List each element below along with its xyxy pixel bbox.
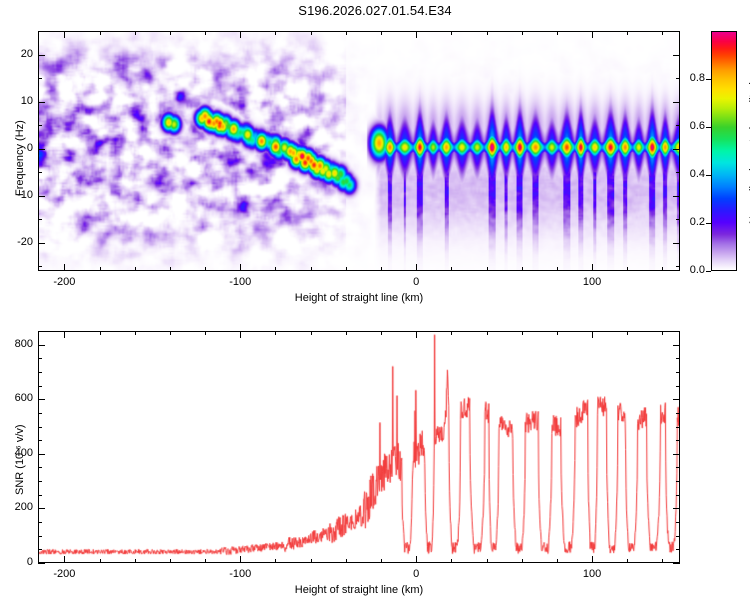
snr-xtick-label: 0 <box>398 568 434 580</box>
spectrogram-ytick <box>38 102 45 103</box>
snr-ytick-right <box>676 467 680 468</box>
snr-xtick-top <box>64 331 65 338</box>
snr-ytick <box>38 508 45 509</box>
snr-ytick <box>38 563 45 564</box>
snr-xtick <box>170 559 171 563</box>
spectrogram-xtick-label: -200 <box>46 276 82 288</box>
snr-ytick-right <box>676 427 680 428</box>
snr-xtick-top <box>592 331 593 338</box>
snr-xtick-top <box>381 331 382 335</box>
spectrogram-xtick-top <box>240 31 241 38</box>
spectrogram-xtick-label: 100 <box>574 276 610 288</box>
snr-ytick-right <box>676 440 680 441</box>
colorbar-tick <box>706 79 711 80</box>
spectrogram-xtick <box>416 264 417 271</box>
snr-ytick <box>38 536 42 537</box>
spectrogram-xtick <box>311 267 312 271</box>
snr-ytick-right <box>676 495 680 496</box>
spectrogram-xtick-top <box>557 31 558 35</box>
snr-ytick <box>38 522 42 523</box>
colorbar-tick-label: 0.2 <box>677 216 705 228</box>
spectrogram-ytick-right <box>676 31 680 32</box>
spectrogram-ytick-right <box>673 196 680 197</box>
snr-ytick-right <box>676 481 680 482</box>
snr-xtick <box>346 559 347 563</box>
spectrogram-xtick <box>100 267 101 271</box>
snr-xtick-top <box>522 331 523 335</box>
snr-xtick <box>100 559 101 563</box>
snr-ytick-right <box>673 508 680 509</box>
snr-trace <box>39 332 679 562</box>
snr-ytick <box>38 481 42 482</box>
snr-xtick <box>487 559 488 563</box>
spectrogram-ytick <box>38 125 42 126</box>
spectrogram-xtick-top <box>311 31 312 35</box>
spectrogram-ytick-right <box>673 102 680 103</box>
snr-ytick <box>38 440 42 441</box>
snr-ytick <box>38 413 42 414</box>
spectrogram-ytick <box>38 149 45 150</box>
snr-ytick-right <box>676 331 680 332</box>
spectrogram-ytick <box>38 172 42 173</box>
spectrogram-ytick-right <box>673 243 680 244</box>
spectrogram-xtick-top <box>592 31 593 38</box>
snr-xtick <box>240 556 241 563</box>
snr-ytick <box>38 467 42 468</box>
spectrogram-xtick <box>592 264 593 271</box>
spectrogram-xtick <box>205 267 206 271</box>
snr-xtick-top <box>100 331 101 335</box>
spectrogram-ytick <box>38 219 42 220</box>
snr-xtick <box>135 559 136 563</box>
spectrogram-xtick <box>64 264 65 271</box>
snr-xtick <box>64 556 65 563</box>
spectrogram-image <box>39 32 679 270</box>
snr-xaxis-label: Height of straight line (km) <box>289 584 429 596</box>
colorbar-tick-label: 0.8 <box>677 72 705 84</box>
spectrogram-xtick <box>487 267 488 271</box>
spectrogram-ytick <box>38 243 45 244</box>
colorbar-gradient <box>711 31 737 271</box>
spectrogram-ytick-right <box>673 55 680 56</box>
snr-xtick-top <box>662 331 663 335</box>
spectrogram-xtick-top <box>487 31 488 35</box>
spectrogram-xtick-label: -100 <box>222 276 258 288</box>
colorbar-tick-label: 0.4 <box>677 168 705 180</box>
spectrogram-ytick <box>38 31 42 32</box>
snr-xtick <box>557 559 558 563</box>
spectrogram-xtick <box>346 267 347 271</box>
snr-ytick <box>38 386 42 387</box>
spectrogram-xtick <box>135 267 136 271</box>
spectrogram-xaxis-label: Height of straight line (km) <box>289 292 429 304</box>
snr-xtick-top <box>240 331 241 338</box>
snr-ytick <box>38 399 45 400</box>
snr-ytick-right <box>673 454 680 455</box>
spectrogram-ytick <box>38 196 45 197</box>
snr-xtick-top <box>135 331 136 335</box>
snr-ytick <box>38 427 42 428</box>
snr-ytick-right <box>676 358 680 359</box>
snr-ytick-right <box>673 563 680 564</box>
page-title: S196.2026.027.01.54.E34 <box>0 3 750 18</box>
snr-xtick <box>592 556 593 563</box>
spectrogram-xtick <box>381 267 382 271</box>
spectrogram-xtick <box>627 267 628 271</box>
snr-xtick-top <box>311 331 312 335</box>
snr-ytick-label: 200 <box>4 501 33 513</box>
snr-xtick-top <box>170 331 171 335</box>
snr-ytick-label: 0 <box>4 556 33 568</box>
snr-xtick <box>627 559 628 563</box>
spectrogram-xtick-top <box>64 31 65 38</box>
snr-xtick-label: -200 <box>46 568 82 580</box>
spectrogram-panel[interactable] <box>38 31 680 271</box>
spectrogram-ytick <box>38 266 42 267</box>
snr-ytick <box>38 331 42 332</box>
spectrogram-xtick <box>522 267 523 271</box>
snr-ytick-right <box>676 413 680 414</box>
spectrogram-xtick <box>240 264 241 271</box>
spectrogram-xtick-top <box>416 31 417 38</box>
spectrogram-xtick-top <box>135 31 136 35</box>
spectrogram-xtick-top <box>627 31 628 35</box>
spectrogram-xtick-top <box>522 31 523 35</box>
spectrogram-xtick-top <box>346 31 347 35</box>
snr-ytick-right <box>676 536 680 537</box>
spectrogram-xtick-top <box>205 31 206 35</box>
spectrogram-ytick <box>38 55 45 56</box>
colorbar-tick <box>706 127 711 128</box>
snr-xtick-top <box>275 331 276 335</box>
snr-ytick-right <box>676 549 680 550</box>
snr-ytick <box>38 495 42 496</box>
snr-ytick-right <box>676 522 680 523</box>
spectrogram-xtick <box>451 267 452 271</box>
spectrogram-xtick-top <box>451 31 452 35</box>
spectrogram-ytick-label: 10 <box>8 95 33 107</box>
snr-xtick <box>662 559 663 563</box>
snr-ytick-right <box>676 372 680 373</box>
spectrogram-ytick-right <box>673 149 680 150</box>
spectrogram-yaxis-label: Frequency (Hz) <box>14 120 26 196</box>
spectrogram-xtick <box>662 267 663 271</box>
snr-xtick <box>381 559 382 563</box>
colorbar-tick-label: 0.0 <box>677 264 705 276</box>
snr-xtick <box>522 559 523 563</box>
snr-xtick-top <box>487 331 488 335</box>
spectrogram-xtick-top <box>100 31 101 35</box>
snr-ytick <box>38 358 42 359</box>
snr-xtick <box>416 556 417 563</box>
snr-panel[interactable] <box>38 331 680 563</box>
spectrogram-xtick-top <box>381 31 382 35</box>
spectrogram-xtick <box>275 267 276 271</box>
snr-xtick-top <box>346 331 347 335</box>
spectrogram-xtick-top <box>275 31 276 35</box>
snr-xtick <box>311 559 312 563</box>
spectrogram-xtick <box>170 267 171 271</box>
figure-canvas: S196.2026.027.01.54.E34 -200-1000100-20-… <box>0 0 750 600</box>
snr-ytick-right <box>676 386 680 387</box>
spectrogram-xtick-top <box>170 31 171 35</box>
snr-xtick-top <box>557 331 558 335</box>
spectrogram-ytick-label: 20 <box>8 48 33 60</box>
snr-ytick-right <box>673 399 680 400</box>
colorbar-tick-label: 0.6 <box>677 120 705 132</box>
snr-ytick-label: 600 <box>4 392 33 404</box>
snr-ytick <box>38 345 45 346</box>
spectrogram-ytick-label: -20 <box>8 236 33 248</box>
spectrogram-ytick <box>38 78 42 79</box>
snr-xtick-top <box>451 331 452 335</box>
snr-xtick <box>275 559 276 563</box>
snr-xtick <box>451 559 452 563</box>
colorbar-tick <box>706 223 711 224</box>
snr-xtick-top <box>627 331 628 335</box>
colorbar-tick <box>706 271 711 272</box>
snr-xtick-top <box>205 331 206 335</box>
snr-xtick-label: -100 <box>222 568 258 580</box>
spectrogram-xtick-label: 0 <box>398 276 434 288</box>
snr-ytick <box>38 454 45 455</box>
snr-xtick-top <box>416 331 417 338</box>
colorbar-tick <box>706 175 711 176</box>
snr-ytick-right <box>673 345 680 346</box>
spectrogram-xtick <box>557 267 558 271</box>
snr-ytick <box>38 372 42 373</box>
snr-yaxis-label: SNR (10 ⁶ v/v) <box>14 424 26 495</box>
snr-ytick <box>38 549 42 550</box>
snr-ytick-label: 800 <box>4 338 33 350</box>
snr-xtick <box>205 559 206 563</box>
spectrogram-xtick-top <box>662 31 663 35</box>
snr-xtick-label: 100 <box>574 568 610 580</box>
